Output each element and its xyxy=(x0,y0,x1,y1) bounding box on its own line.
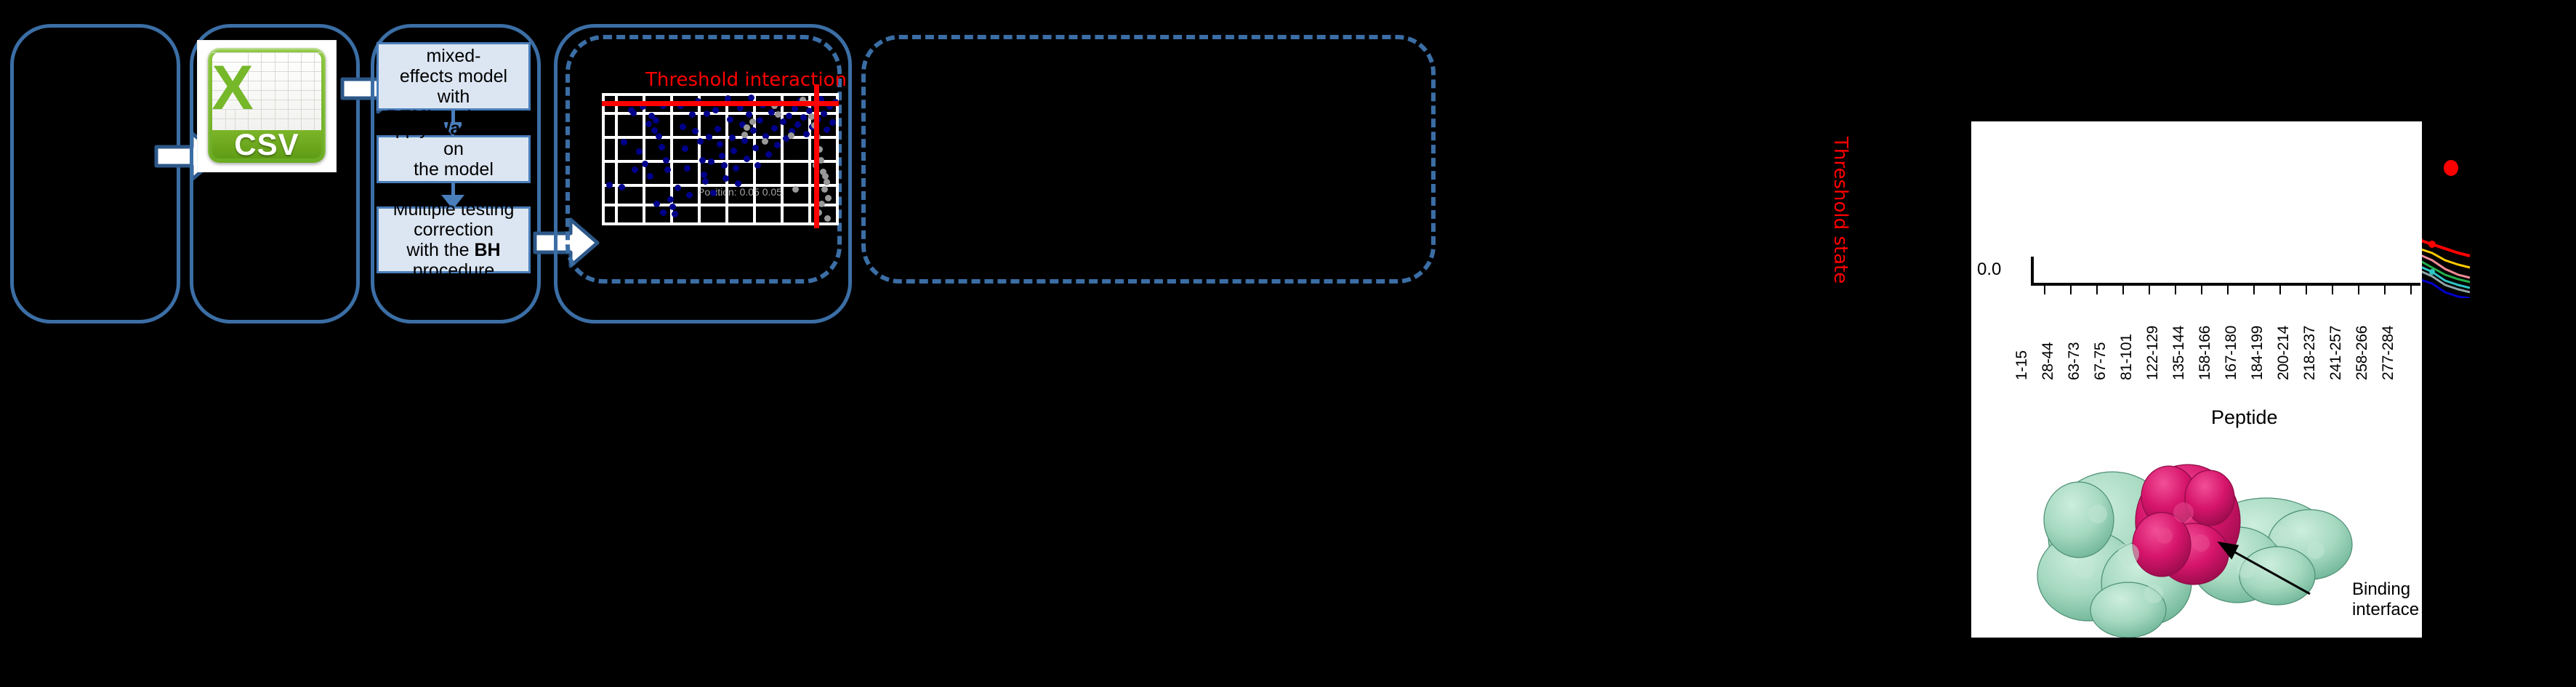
threshold-state-line xyxy=(814,84,819,228)
grid-v xyxy=(753,93,756,225)
csv-file-icon: X CSV xyxy=(208,48,326,163)
x-tick-label: 63-73 xyxy=(2066,342,2083,380)
x-tick-label: 135-144 xyxy=(2170,326,2188,380)
x-tick-label: 1-15 xyxy=(2013,350,2031,380)
x-tick-label: 258-266 xyxy=(2354,326,2371,380)
csv-format-band: CSV xyxy=(212,130,322,159)
threshold-interaction-line xyxy=(602,101,839,106)
x-tick-label: 81-101 xyxy=(2118,334,2136,380)
grid-v xyxy=(615,93,618,225)
step3-line3-pre: with the xyxy=(406,240,474,260)
grid-v xyxy=(836,93,839,225)
step1-line2: effects model with xyxy=(400,66,507,107)
x-axis-line xyxy=(2031,283,2420,286)
x-tick-label: 218-237 xyxy=(2301,326,2319,380)
step1-line1: Fit a linear mixed- xyxy=(411,25,496,66)
legend-dot-red xyxy=(2444,160,2458,176)
grid-h xyxy=(602,204,839,206)
csv-format-label: CSV xyxy=(234,127,299,162)
x-tick-label: 200-214 xyxy=(2275,326,2293,380)
x-tick-label: 67-75 xyxy=(2092,342,2109,380)
x-tick-label: 241-257 xyxy=(2327,326,2345,380)
x-axis-title: Peptide xyxy=(2211,406,2278,429)
peptide-results-panel xyxy=(861,35,1436,284)
workflow-diagram: X CSV Fit a linear mixed- effects model … xyxy=(0,0,2576,687)
grid-h xyxy=(602,222,839,225)
x-tick-label: 158-166 xyxy=(2197,326,2214,380)
step3-line2: correction xyxy=(414,220,494,240)
step2-line1-post: on xyxy=(443,139,464,159)
x-tick-label: 122-129 xyxy=(2144,326,2162,380)
grid-h xyxy=(602,136,839,139)
csv-file-card: X CSV xyxy=(198,41,336,172)
step3-line3-post: procedure xyxy=(413,260,495,281)
step3-line1: Multiple testing xyxy=(393,199,515,220)
threshold-state-label: Threshold state xyxy=(1830,137,1851,284)
step-wald-tests: Apply Wald tests on the model parameters xyxy=(377,135,531,183)
step2-wald: Wald tests xyxy=(434,118,524,139)
grid-h xyxy=(602,160,839,163)
step-fit-model: Fit a linear mixed- effects model with R… xyxy=(377,42,531,111)
y-axis-line xyxy=(2031,257,2034,286)
grid-h xyxy=(602,93,839,96)
x-tick-label: 28-44 xyxy=(2040,342,2057,380)
annotation-line-1: Binding xyxy=(2352,579,2410,599)
excel-x-glyph: X xyxy=(212,52,252,124)
x-tick-label: 167-180 xyxy=(2223,326,2240,380)
y-axis-min-label: 0.0 xyxy=(1977,260,2001,280)
binding-interface-annotation: Binding interface xyxy=(2352,579,2419,619)
x-tick-label: 277-284 xyxy=(2380,326,2397,380)
peptide-axis-protein-card: 0.0 1-15 28-44 63-73 67-75 81-101 122-12… xyxy=(1971,121,2422,638)
annotation-line-2: interface xyxy=(2352,600,2419,619)
grid-v xyxy=(602,93,605,225)
step2-line1-pre: Apply xyxy=(383,118,433,139)
grid-v xyxy=(643,93,645,225)
grid-v xyxy=(725,93,728,225)
volcano-plot: Position: 0.05 0.05 xyxy=(602,93,839,225)
step-bh-correction: Multiple testing correction with the BH … xyxy=(377,206,531,273)
step3-bh: BH xyxy=(475,240,501,260)
protein-structure-image xyxy=(2019,427,2361,638)
x-tick-label: 184-199 xyxy=(2249,326,2266,380)
